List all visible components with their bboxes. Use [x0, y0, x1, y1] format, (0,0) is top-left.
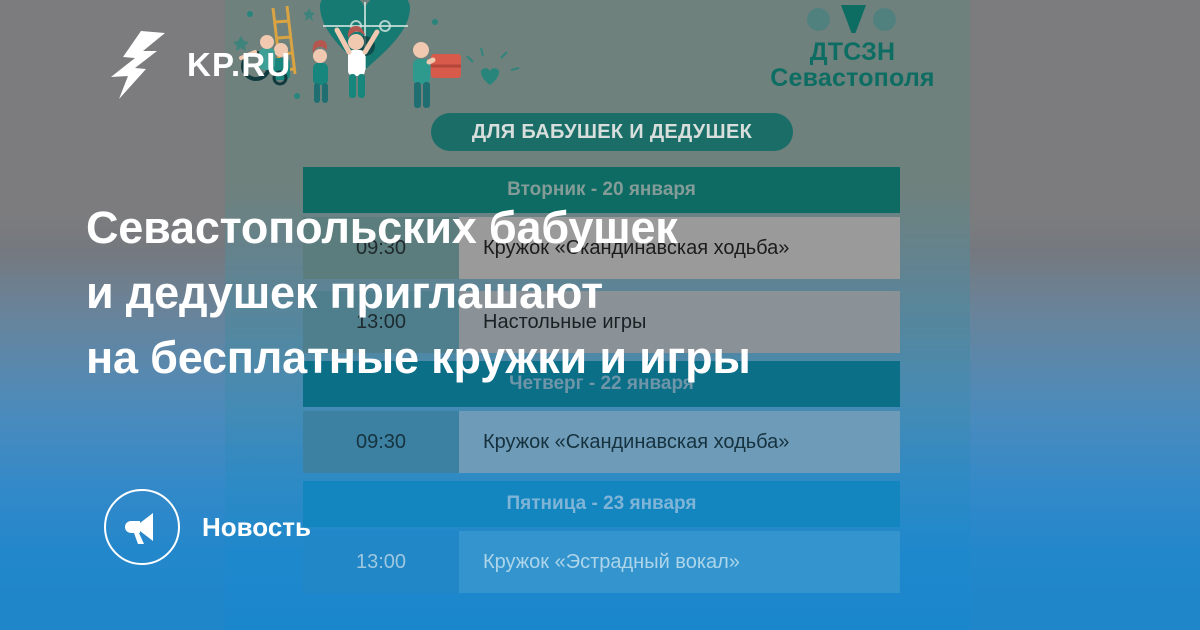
dtszn-dot-right-icon	[873, 8, 896, 31]
dtszn-mark-icon	[745, 4, 960, 38]
dtszn-line1: ДТСЗН	[745, 40, 960, 66]
audience-pill: ДЛЯ БАБУШЕК И ДЕДУШЕК	[431, 113, 793, 151]
schedule-day-block: Пятница - 23 января 13:00 Кружок «Эстрад…	[303, 481, 900, 593]
news-badge-label: Новость	[202, 512, 311, 543]
megaphone-icon	[104, 489, 180, 565]
kpru-logo[interactable]: KP.RU	[105, 31, 291, 99]
schedule-row-time: 09:30	[303, 411, 459, 473]
schedule-row-title: Кружок «Эстрадный вокал»	[459, 531, 900, 593]
schedule-row-time: 13:00	[303, 531, 459, 593]
dtszn-dot-left-icon	[807, 8, 830, 31]
news-badge: Новость	[104, 489, 311, 565]
dtszn-line2: Севастополя	[745, 66, 960, 92]
poster-canvas: ДТСЗН Севастополя ДЛЯ БАБУШЕК И ДЕДУШЕК …	[0, 0, 1200, 630]
swallow-bird-icon	[105, 31, 173, 99]
headline-line-2: и дедушек приглашают	[86, 261, 1096, 326]
dtszn-v-icon	[840, 4, 867, 34]
audience-pill-label: ДЛЯ БАБУШЕК И ДЕДУШЕК	[472, 121, 752, 144]
schedule-row: 09:30 Кружок «Скандинавская ходьба»	[303, 411, 900, 473]
page-title: Севастопольских бабушек и дедушек пригла…	[86, 196, 1096, 390]
schedule-spacer	[303, 473, 900, 481]
headline-line-3: на бесплатные кружки и игры	[86, 326, 1096, 391]
headline-line-1: Севастопольских бабушек	[86, 196, 1096, 261]
dtszn-logo: ДТСЗН Севастополя	[745, 4, 960, 91]
schedule-row: 13:00 Кружок «Эстрадный вокал»	[303, 531, 900, 593]
kpru-logo-text: KP.RU	[187, 46, 291, 84]
schedule-day-header: Пятница - 23 января	[303, 481, 900, 527]
schedule-row-title: Кружок «Скандинавская ходьба»	[459, 411, 900, 473]
